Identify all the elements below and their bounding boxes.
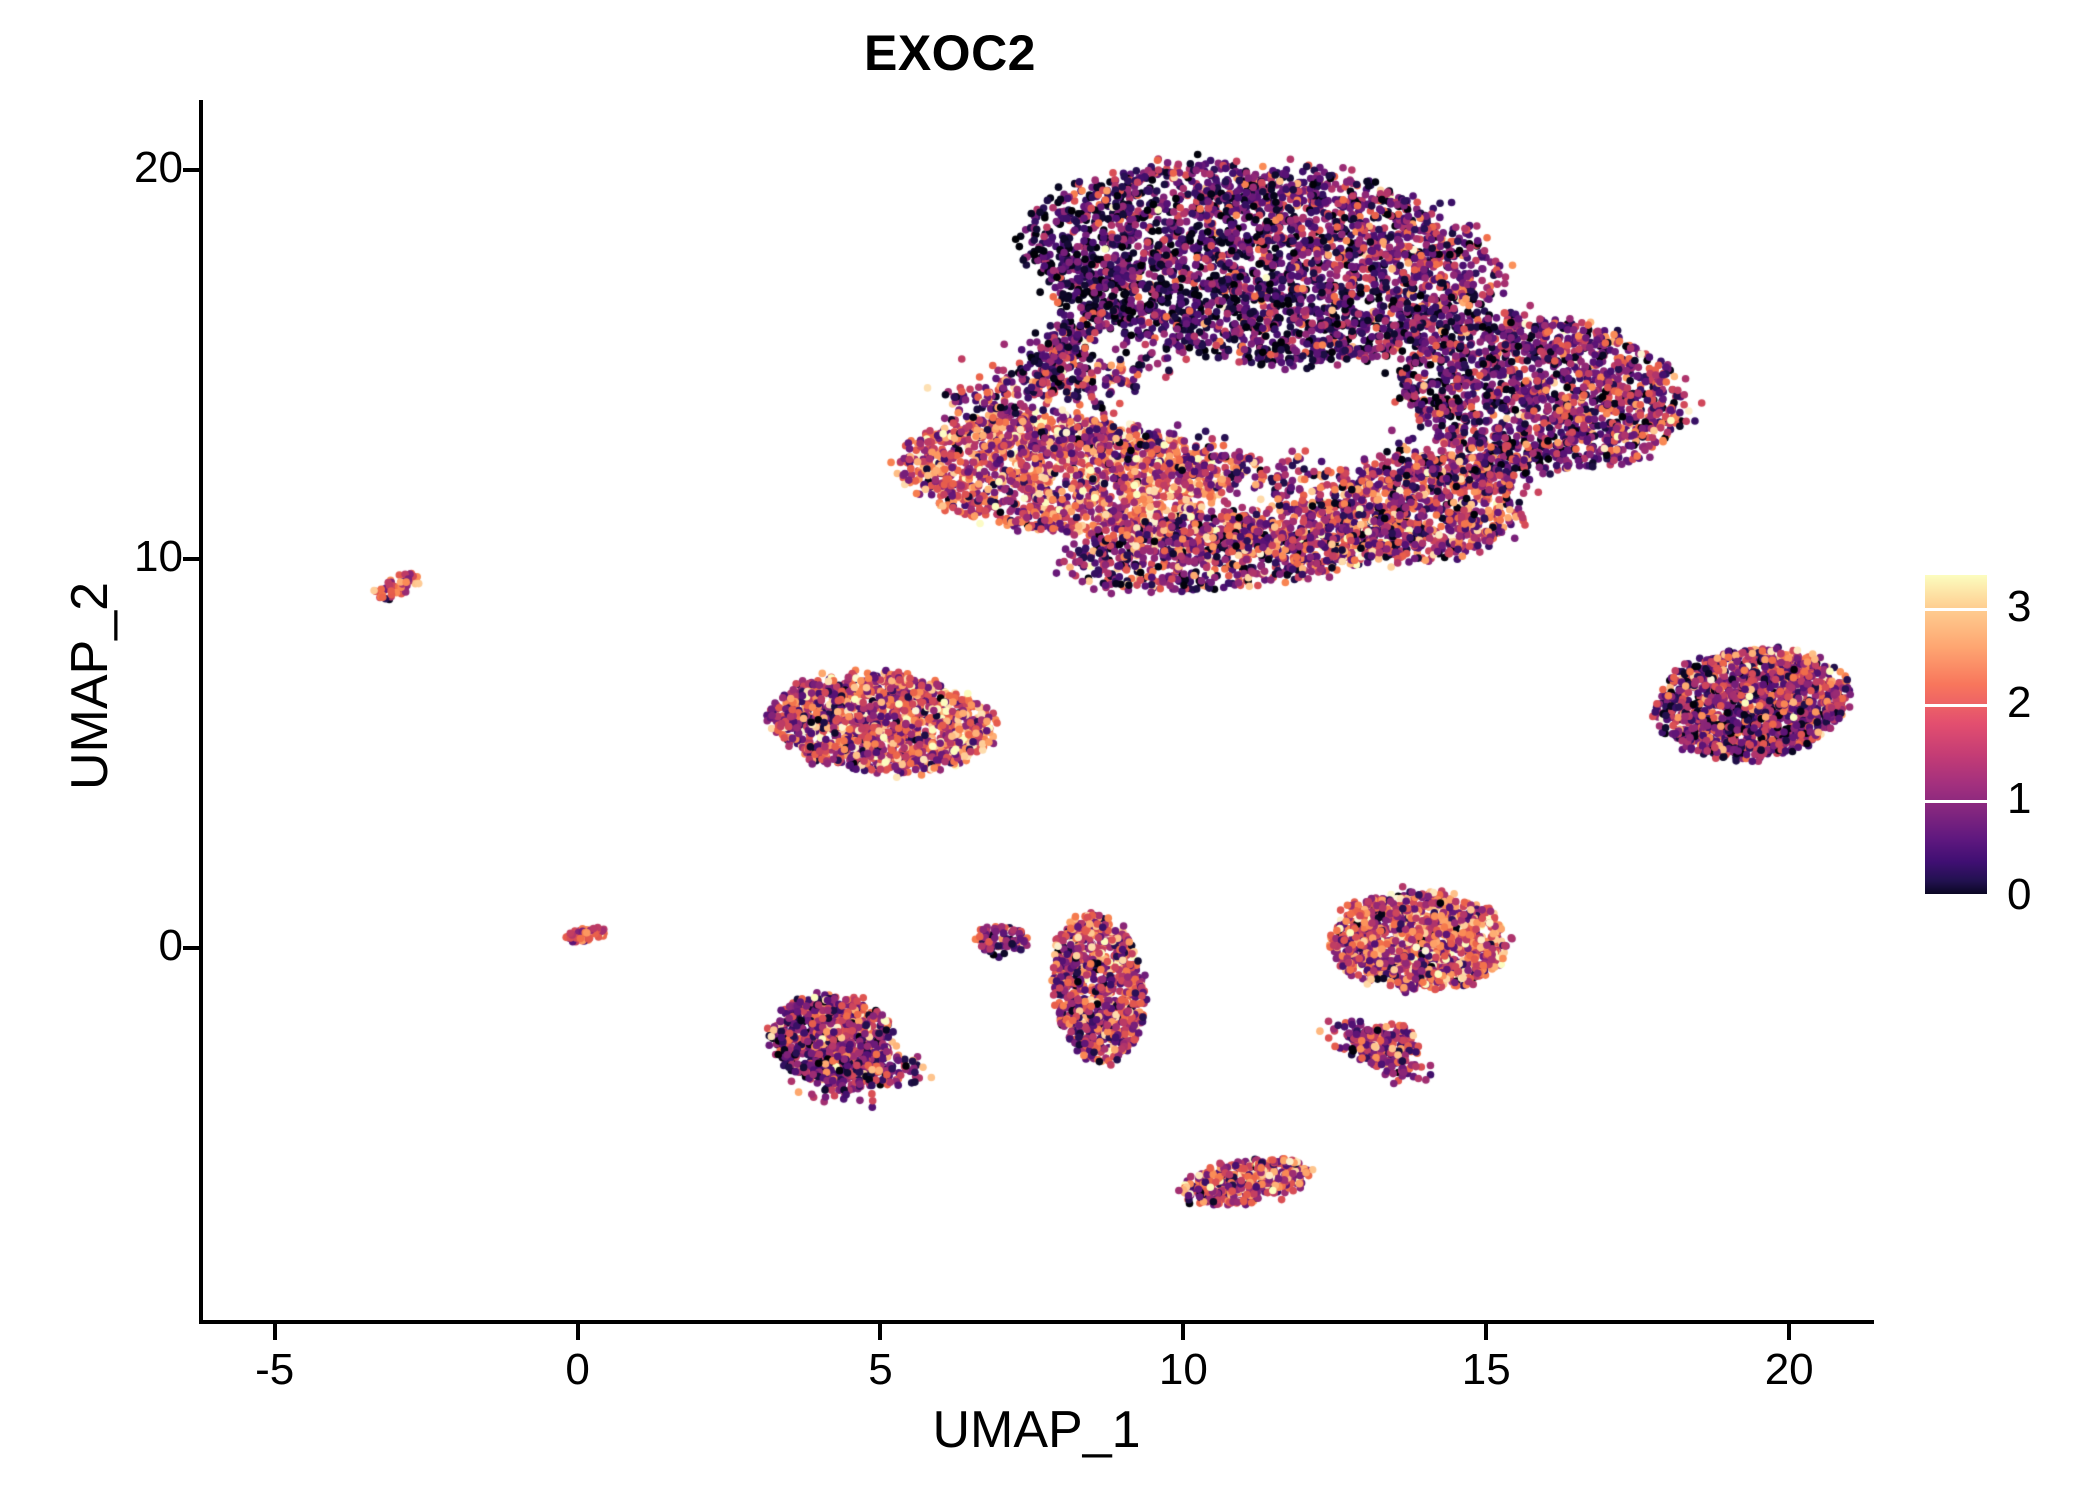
colorbar-gradient <box>1925 575 1987 897</box>
x-axis-title: UMAP_1 <box>199 1404 1874 1456</box>
x-tick-mark <box>878 1324 882 1340</box>
x-tick-label: 10 <box>1103 1348 1263 1392</box>
x-tick-label: 20 <box>1709 1348 1869 1392</box>
colorbar-tick-label: 1 <box>2007 777 2031 821</box>
y-axis-line <box>199 100 203 1324</box>
x-tick-mark <box>1484 1324 1488 1340</box>
scatter-plot-canvas <box>202 100 1874 1322</box>
y-tick-mark <box>183 557 199 561</box>
y-tick-mark <box>183 946 199 950</box>
x-tick-label: 5 <box>800 1348 960 1392</box>
x-tick-label: 0 <box>498 1348 658 1392</box>
y-axis-title: UMAP_2 <box>64 336 116 1036</box>
x-tick-mark <box>1787 1324 1791 1340</box>
x-tick-mark <box>576 1324 580 1340</box>
colorbar-tick-label: 0 <box>2007 873 2031 917</box>
x-tick-label: 15 <box>1406 1348 1566 1392</box>
y-tick-mark <box>183 168 199 172</box>
y-tick-label: 10 <box>134 535 183 579</box>
page-title: EXOC2 <box>0 28 1900 78</box>
colorbar-tick-label: 3 <box>2007 585 2031 629</box>
x-tick-mark <box>273 1324 277 1340</box>
y-tick-label: 20 <box>134 146 183 190</box>
colorbar-tick-label: 2 <box>2007 681 2031 725</box>
x-axis-line <box>199 1320 1874 1324</box>
y-tick-label: 0 <box>159 924 183 968</box>
x-tick-mark <box>1181 1324 1185 1340</box>
x-tick-label: -5 <box>195 1348 355 1392</box>
umap-feature-plot: EXOC2 01020 -505101520 UMAP_1 UMAP_2 321… <box>0 0 2100 1500</box>
